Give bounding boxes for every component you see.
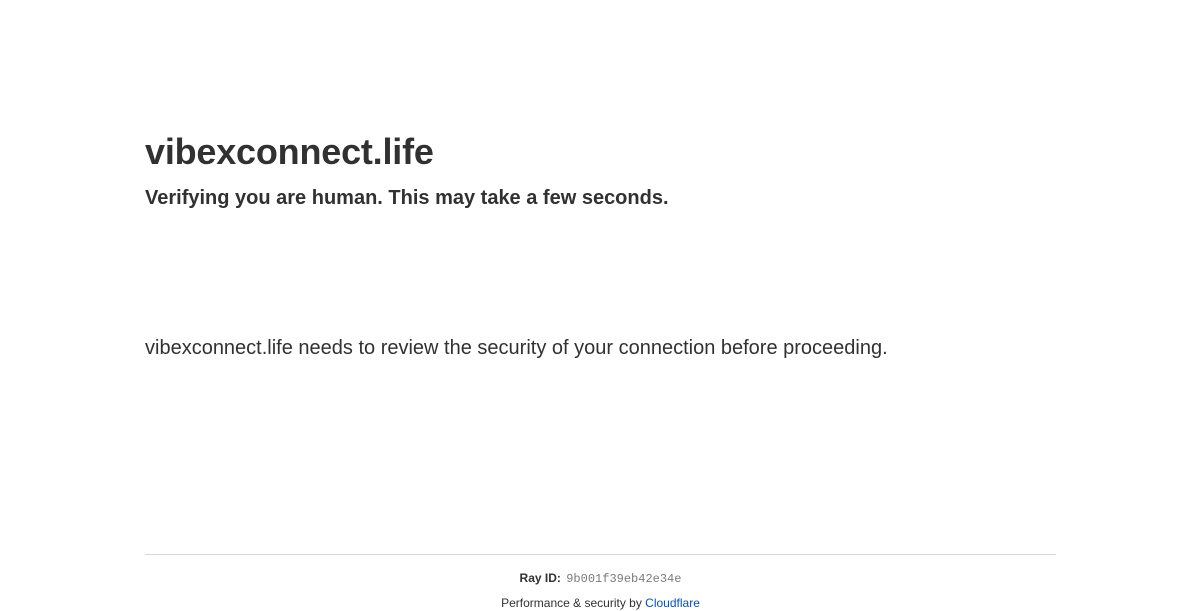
cloudflare-link[interactable]: Cloudflare [645, 596, 700, 610]
turnstile-challenge-widget[interactable] [145, 235, 445, 330]
main-wrapper: vibexconnect.life Verifying you are huma… [145, 0, 1056, 366]
footer: Ray ID: 9b001f39eb42e34e Performance & s… [145, 554, 1056, 611]
ray-id-row: Ray ID: 9b001f39eb42e34e [145, 571, 1056, 587]
page-title-hostname: vibexconnect.life [145, 131, 1056, 173]
ray-id-label: Ray ID: [520, 571, 561, 585]
challenge-page: vibexconnect.life Verifying you are huma… [0, 0, 1200, 600]
attribution-prefix: Performance & security by [501, 596, 642, 610]
verification-status-subtitle: Verifying you are human. This may take a… [145, 185, 1056, 211]
security-review-description: vibexconnect.life needs to review the se… [145, 330, 945, 366]
ray-id-value: 9b001f39eb42e34e [566, 572, 681, 586]
attribution-row: Performance & security by Cloudflare [145, 596, 1056, 611]
main-content: vibexconnect.life Verifying you are huma… [145, 0, 1056, 366]
